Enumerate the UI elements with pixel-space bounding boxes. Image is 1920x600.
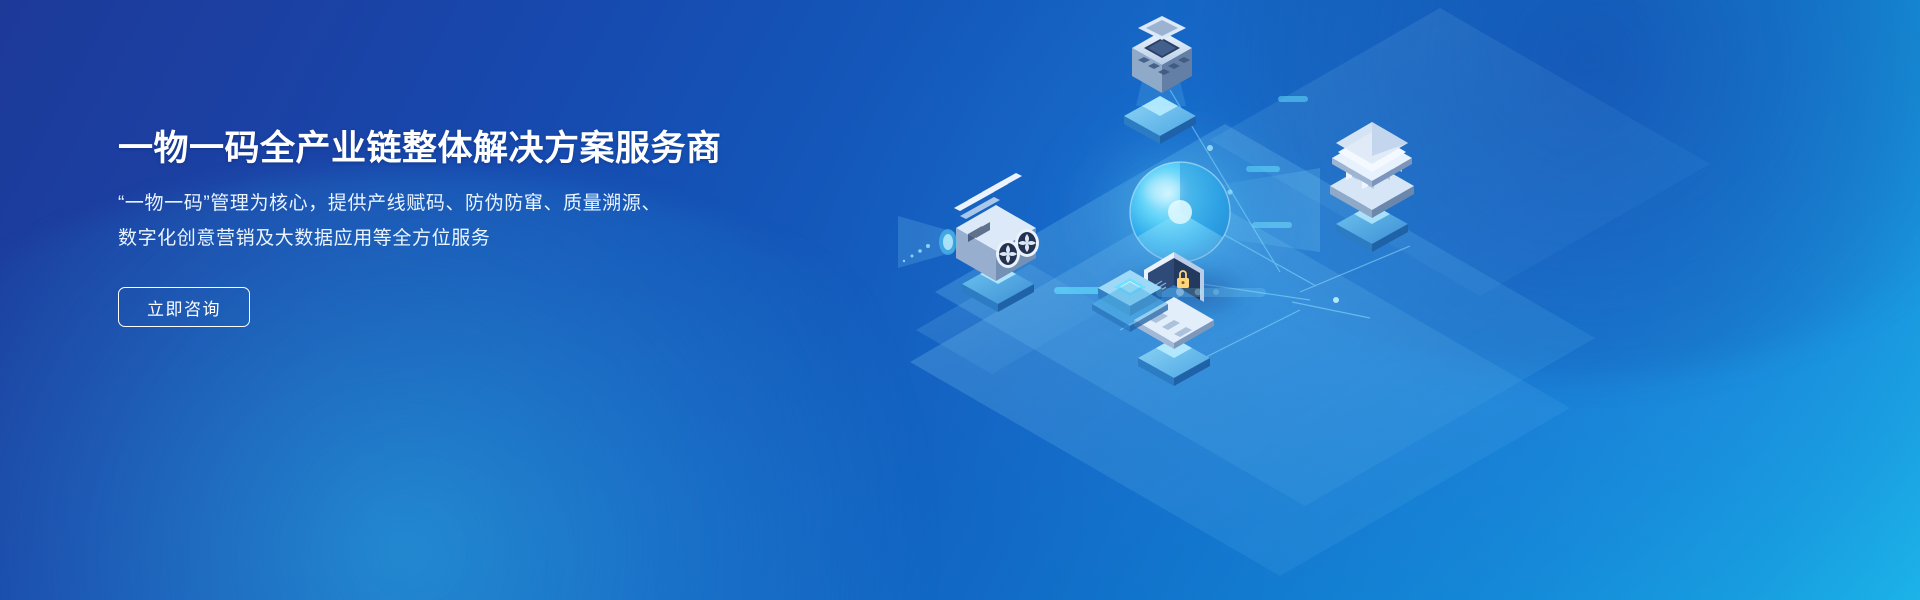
hero-subtitle: “一物一码”管理为核心，提供产线赋码、防伪防窜、质量溯源、 数字化创意营销及大数… xyxy=(118,184,838,256)
bank-building-node xyxy=(1330,122,1414,252)
server-fan-rack-node xyxy=(898,173,1039,312)
consult-now-button[interactable]: 立即咨询 xyxy=(118,287,250,327)
hero-text-block: 一物一码全产业链整体解决方案服务商 “一物一码”管理为核心，提供产线赋码、防伪防… xyxy=(118,128,838,327)
receipt-printer-node xyxy=(1124,16,1196,144)
hero-subtitle-line-2: 数字化创意营销及大数据应用等全方位服务 xyxy=(118,221,838,256)
hero-banner: 一物一码全产业链整体解决方案服务商 “一物一码”管理为核心，提供产线赋码、防伪防… xyxy=(0,0,1920,600)
hero-subtitle-line-1: “一物一码”管理为核心，提供产线赋码、防伪防窜、质量溯源、 xyxy=(118,186,838,221)
receipt-printer-icon xyxy=(1132,16,1192,93)
isometric-iot-network-illustration xyxy=(880,0,1920,600)
page-title: 一物一码全产业链整体解决方案服务商 xyxy=(118,128,838,170)
scan-strip xyxy=(1156,288,1266,297)
